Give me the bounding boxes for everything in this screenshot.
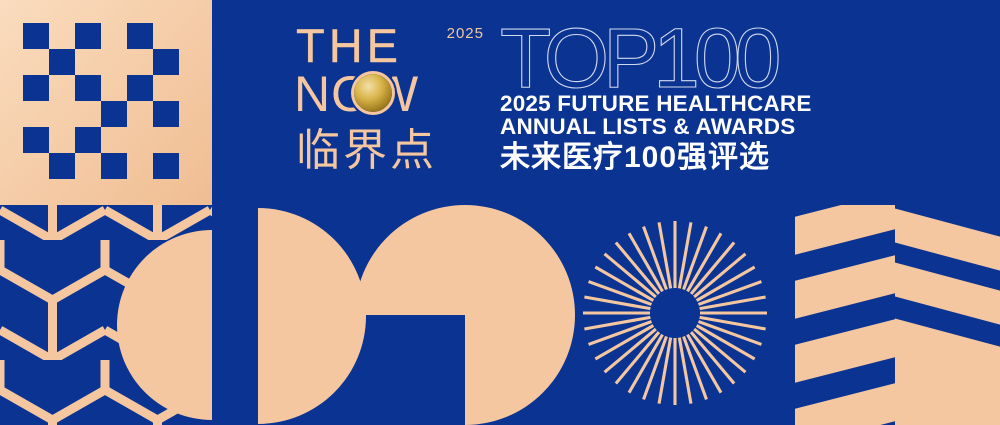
the-row: THE 2025 [296, 22, 486, 70]
year-label: 2025 [447, 25, 484, 42]
top100-wrap: TOP100 [500, 24, 845, 92]
headline-chinese: 未来医疗100强评选 [500, 140, 845, 176]
headline-line-2: ANNUAL LISTS & AWARDS [500, 115, 845, 138]
stripes-right-panel [893, 205, 1000, 425]
headline-block: TOP100 2025 FUTURE HEALTHCARE ANNUAL LIS… [500, 24, 845, 176]
banner-root: THE 2025 NOW 临界点 TOP100 2025 FUTURE HEAL… [0, 0, 1000, 425]
stripes-left-panel [790, 190, 900, 425]
the-wordmark: THE [296, 22, 402, 69]
gold-orb-icon [354, 74, 392, 112]
now-row: NOW [296, 68, 486, 120]
top100-outline-title: TOP100 [500, 16, 775, 100]
logo-block: THE 2025 NOW 临界点 [296, 22, 486, 192]
chinese-wordmark: 临界点 [296, 126, 486, 176]
